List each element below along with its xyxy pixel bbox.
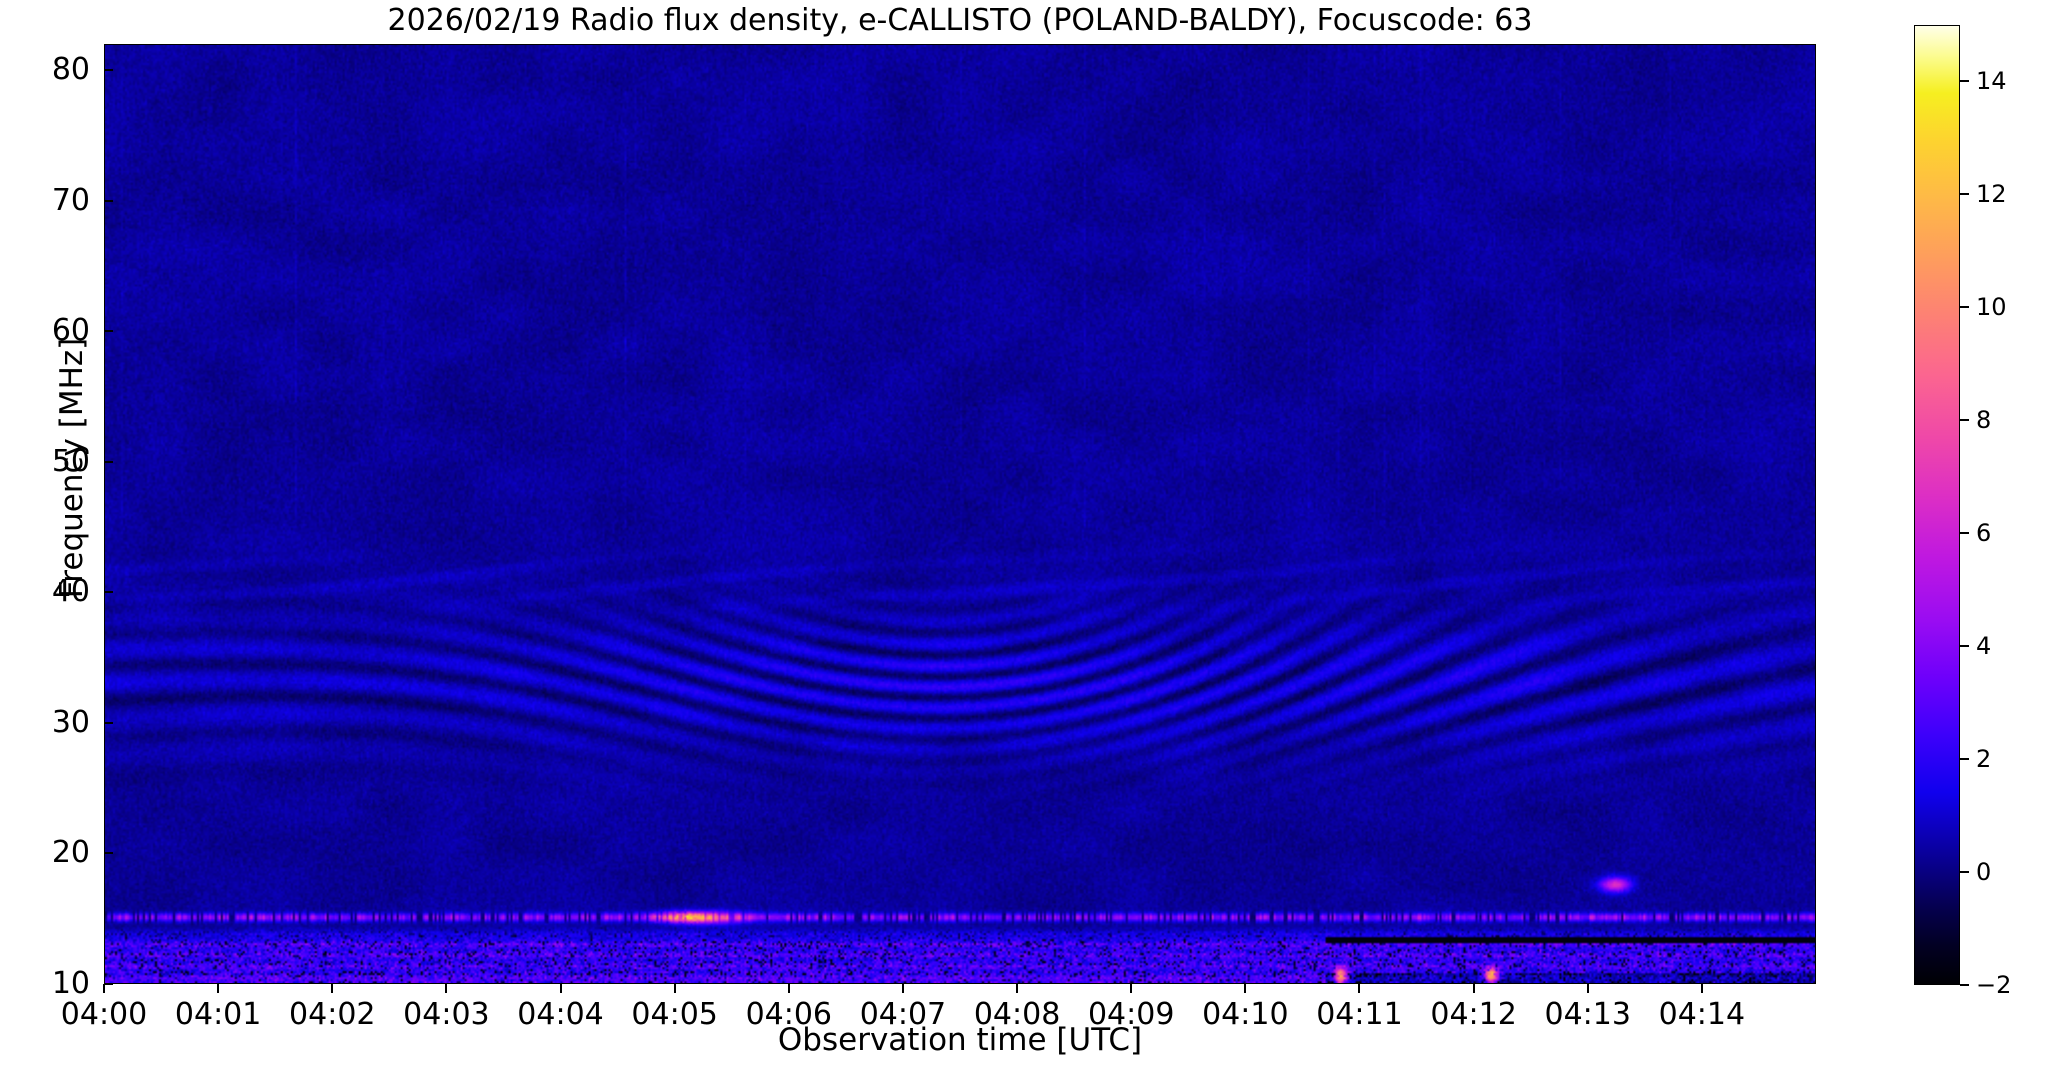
x-tick-mark (217, 984, 219, 993)
x-tick-mark (103, 984, 105, 993)
colorbar-tick-mark (1960, 419, 1969, 421)
y-tick-mark (104, 69, 113, 71)
colorbar-tick-mark (1960, 306, 1969, 308)
colorbar-tick-label: −2 (1976, 971, 2011, 999)
x-tick-mark (1473, 984, 1475, 993)
x-tick-mark (674, 984, 676, 993)
colorbar-tick-label: 4 (1976, 632, 1991, 660)
y-tick-mark (104, 461, 113, 463)
colorbar-tick-mark (1960, 984, 1969, 986)
colorbar-tick-label: 0 (1976, 858, 1991, 886)
x-tick-mark (1130, 984, 1132, 993)
colorbar-tick-label: 14 (1976, 67, 2007, 95)
colorbar-tick-label: 6 (1976, 519, 1991, 547)
colorbar-tick-label: 10 (1976, 293, 2007, 321)
spectrogram-figure: 2026/02/19 Radio flux density, e-CALLIST… (0, 0, 2047, 1067)
colorbar-tick-mark (1960, 645, 1969, 647)
y-tick-mark (104, 983, 113, 985)
x-tick-mark (560, 984, 562, 993)
colorbar-tick-mark (1960, 193, 1969, 195)
spectrogram-image (105, 45, 1815, 983)
colorbar-gradient (1914, 25, 1960, 985)
x-tick-mark (331, 984, 333, 993)
colorbar-tick-label: 12 (1976, 180, 2007, 208)
y-tick-mark (104, 330, 113, 332)
y-tick-mark (104, 591, 113, 593)
colorbar[interactable]: 14121086420−2 (1914, 25, 1960, 985)
x-tick-mark (1016, 984, 1018, 993)
x-tick-mark (902, 984, 904, 993)
y-axis-label: Frequency [MHz] (54, 0, 90, 938)
y-tick-mark (104, 722, 113, 724)
x-axis-label: Observation time [UTC] (104, 1022, 1816, 1058)
spectrogram-plot-area[interactable] (104, 44, 1816, 984)
colorbar-tick-label: 2 (1976, 745, 1991, 773)
colorbar-tick-mark (1960, 871, 1969, 873)
colorbar-tick-mark (1960, 758, 1969, 760)
y-tick-mark (104, 200, 113, 202)
colorbar-tick-label: 8 (1976, 406, 1991, 434)
page-title: 2026/02/19 Radio flux density, e-CALLIST… (104, 2, 1816, 40)
x-tick-mark (788, 984, 790, 993)
x-tick-mark (1701, 984, 1703, 993)
x-tick-mark (1244, 984, 1246, 993)
x-tick-mark (445, 984, 447, 993)
x-tick-mark (1587, 984, 1589, 993)
colorbar-tick-mark (1960, 532, 1969, 534)
colorbar-tick-mark (1960, 80, 1969, 82)
y-tick-mark (104, 852, 113, 854)
x-tick-mark (1358, 984, 1360, 993)
